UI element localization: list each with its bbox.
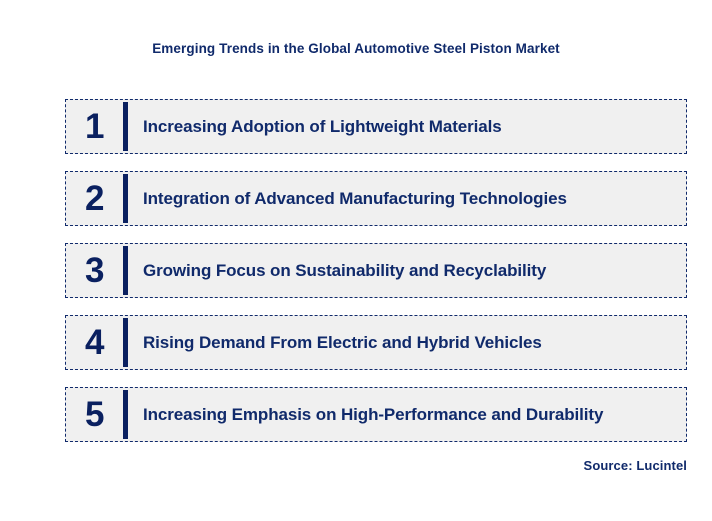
list-item: 2 Integration of Advanced Manufacturing …: [65, 171, 687, 226]
rank-number: 2: [66, 179, 123, 219]
list-item: 4 Rising Demand From Electric and Hybrid…: [65, 315, 687, 370]
infographic-page: Emerging Trends in the Global Automotive…: [0, 0, 712, 521]
trend-list: 1 Increasing Adoption of Lightweight Mat…: [65, 99, 687, 442]
list-item: 3 Growing Focus on Sustainability and Re…: [65, 243, 687, 298]
trend-label: Integration of Advanced Manufacturing Te…: [128, 188, 686, 210]
rank-number: 4: [66, 323, 123, 363]
rank-number: 5: [66, 395, 123, 435]
rank-number: 1: [66, 107, 123, 147]
source-attribution: Source: Lucintel: [584, 458, 687, 473]
page-title: Emerging Trends in the Global Automotive…: [0, 40, 712, 58]
list-item: 5 Increasing Emphasis on High-Performanc…: [65, 387, 687, 442]
trend-label: Increasing Emphasis on High-Performance …: [128, 404, 686, 426]
list-item: 1 Increasing Adoption of Lightweight Mat…: [65, 99, 687, 154]
trend-label: Increasing Adoption of Lightweight Mater…: [128, 116, 686, 138]
trend-label: Growing Focus on Sustainability and Recy…: [128, 260, 686, 282]
rank-number: 3: [66, 251, 123, 291]
trend-label: Rising Demand From Electric and Hybrid V…: [128, 332, 686, 354]
